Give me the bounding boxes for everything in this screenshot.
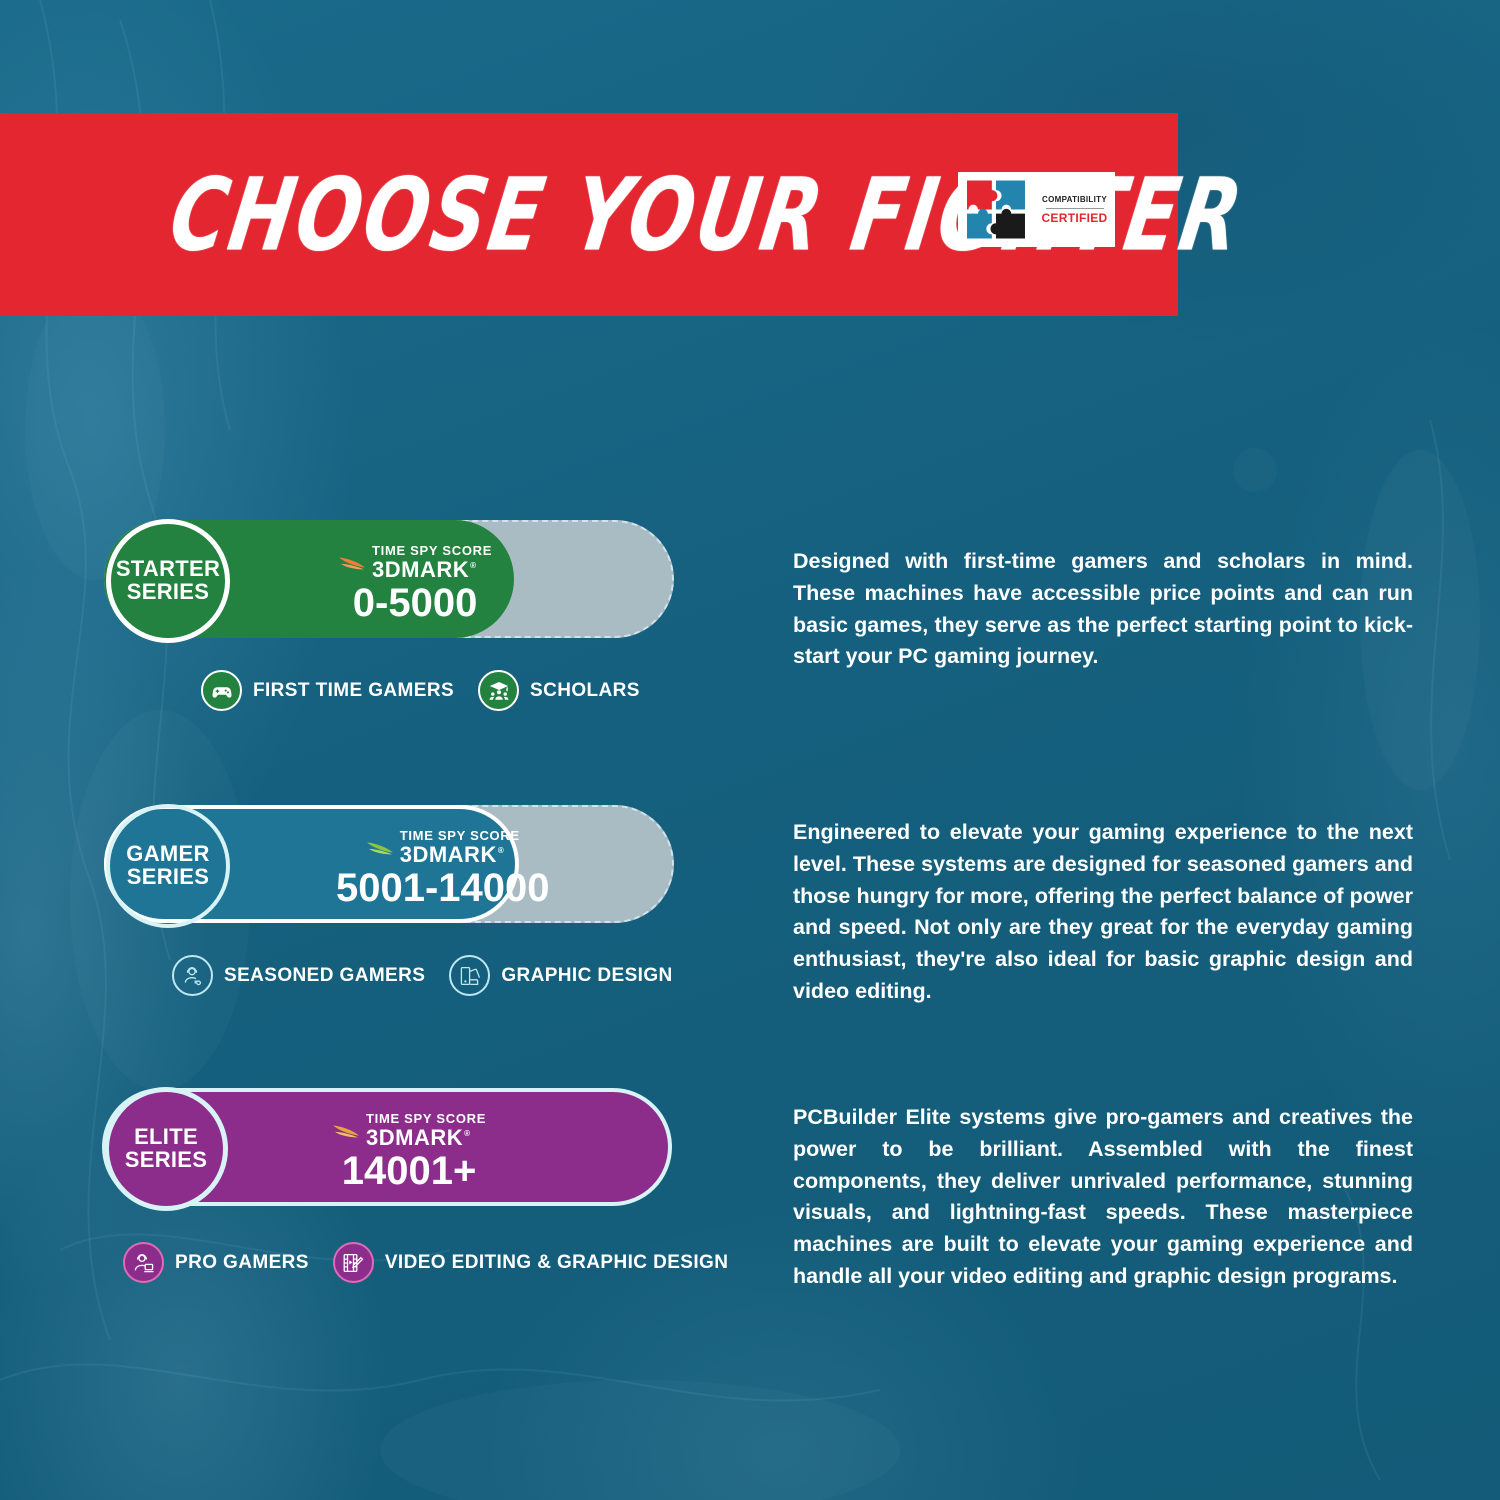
certified-label: CERTIFIED: [1041, 212, 1107, 224]
series-name-line1: ELITE: [134, 1126, 198, 1149]
audience-label: SCHOLARS: [530, 680, 640, 702]
puzzle-piece-icon: [958, 172, 1034, 247]
score-track: STARTER SERIES TIME SPY SCORE 3DMARK 0-5…: [104, 520, 674, 638]
score-track: GAMER SERIES TIME SPY SCORE 3DMARK 5001-…: [104, 805, 674, 923]
audience-chip[interactable]: GRAPHIC DESIGN: [449, 955, 672, 996]
series-name-line2: SERIES: [127, 581, 210, 604]
series-description-elite: PCBuilder Elite systems give pro-gamers …: [793, 1102, 1413, 1293]
audience-chip[interactable]: FIRST TIME GAMERS: [201, 670, 454, 711]
audience-chips-starter: FIRST TIME GAMERS SCHOLARS: [201, 670, 640, 711]
score-track: ELITE SERIES TIME SPY SCORE 3DMARK 14001…: [104, 1090, 674, 1208]
certified-text-box: COMPATIBILITY CERTIFIED: [1034, 172, 1115, 247]
gauge-gamer: GAMER SERIES TIME SPY SCORE 3DMARK 5001-…: [104, 805, 684, 923]
audience-label: GRAPHIC DESIGN: [501, 965, 672, 987]
audience-label: SEASONED GAMERS: [224, 965, 425, 987]
film-pencil-icon: [333, 1242, 374, 1283]
series-knob-starter[interactable]: STARTER SERIES: [106, 519, 230, 643]
audience-chip[interactable]: PRO GAMERS: [123, 1242, 309, 1283]
audience-label: PRO GAMERS: [175, 1252, 309, 1274]
series-knob-gamer[interactable]: GAMER SERIES: [106, 804, 230, 928]
gauge-elite: ELITE SERIES TIME SPY SCORE 3DMARK 14001…: [104, 1090, 684, 1208]
audience-chip[interactable]: VIDEO EDITING & GRAPHIC DESIGN: [333, 1242, 728, 1283]
audience-chips-gamer: SEASONED GAMERS GRAPHIC DESIGN: [172, 955, 673, 996]
audience-chip[interactable]: SCHOLARS: [478, 670, 640, 711]
pro-gamer-headset-icon: [123, 1242, 164, 1283]
series-name-line2: SERIES: [125, 1149, 208, 1172]
series-knob-elite[interactable]: ELITE SERIES: [104, 1087, 228, 1211]
audience-chip[interactable]: SEASONED GAMERS: [172, 955, 425, 996]
series-name-line1: STARTER: [116, 558, 220, 581]
divider: [1046, 208, 1104, 209]
series-description-gamer: Engineered to elevate your gaming experi…: [793, 817, 1413, 1008]
series-description-starter: Designed with first-time gamers and scho…: [793, 546, 1413, 673]
audience-label: VIDEO EDITING & GRAPHIC DESIGN: [385, 1252, 728, 1274]
compatibility-certified-badge: COMPATIBILITY CERTIFIED: [958, 172, 1115, 247]
audience-label: FIRST TIME GAMERS: [253, 680, 454, 702]
graduation-group-icon: [478, 670, 519, 711]
gauge-starter: STARTER SERIES TIME SPY SCORE 3DMARK 0-5…: [104, 520, 684, 638]
series-name-line1: GAMER: [126, 843, 209, 866]
gamepad-icon: [201, 670, 242, 711]
compatibility-label: COMPATIBILITY: [1042, 196, 1107, 204]
headset-gamer-icon: [172, 955, 213, 996]
series-name-line2: SERIES: [127, 866, 210, 889]
color-swatch-icon: [449, 955, 490, 996]
audience-chips-elite: PRO GAMERS VIDEO EDITING & GRAPHIC DESIG…: [123, 1242, 728, 1283]
